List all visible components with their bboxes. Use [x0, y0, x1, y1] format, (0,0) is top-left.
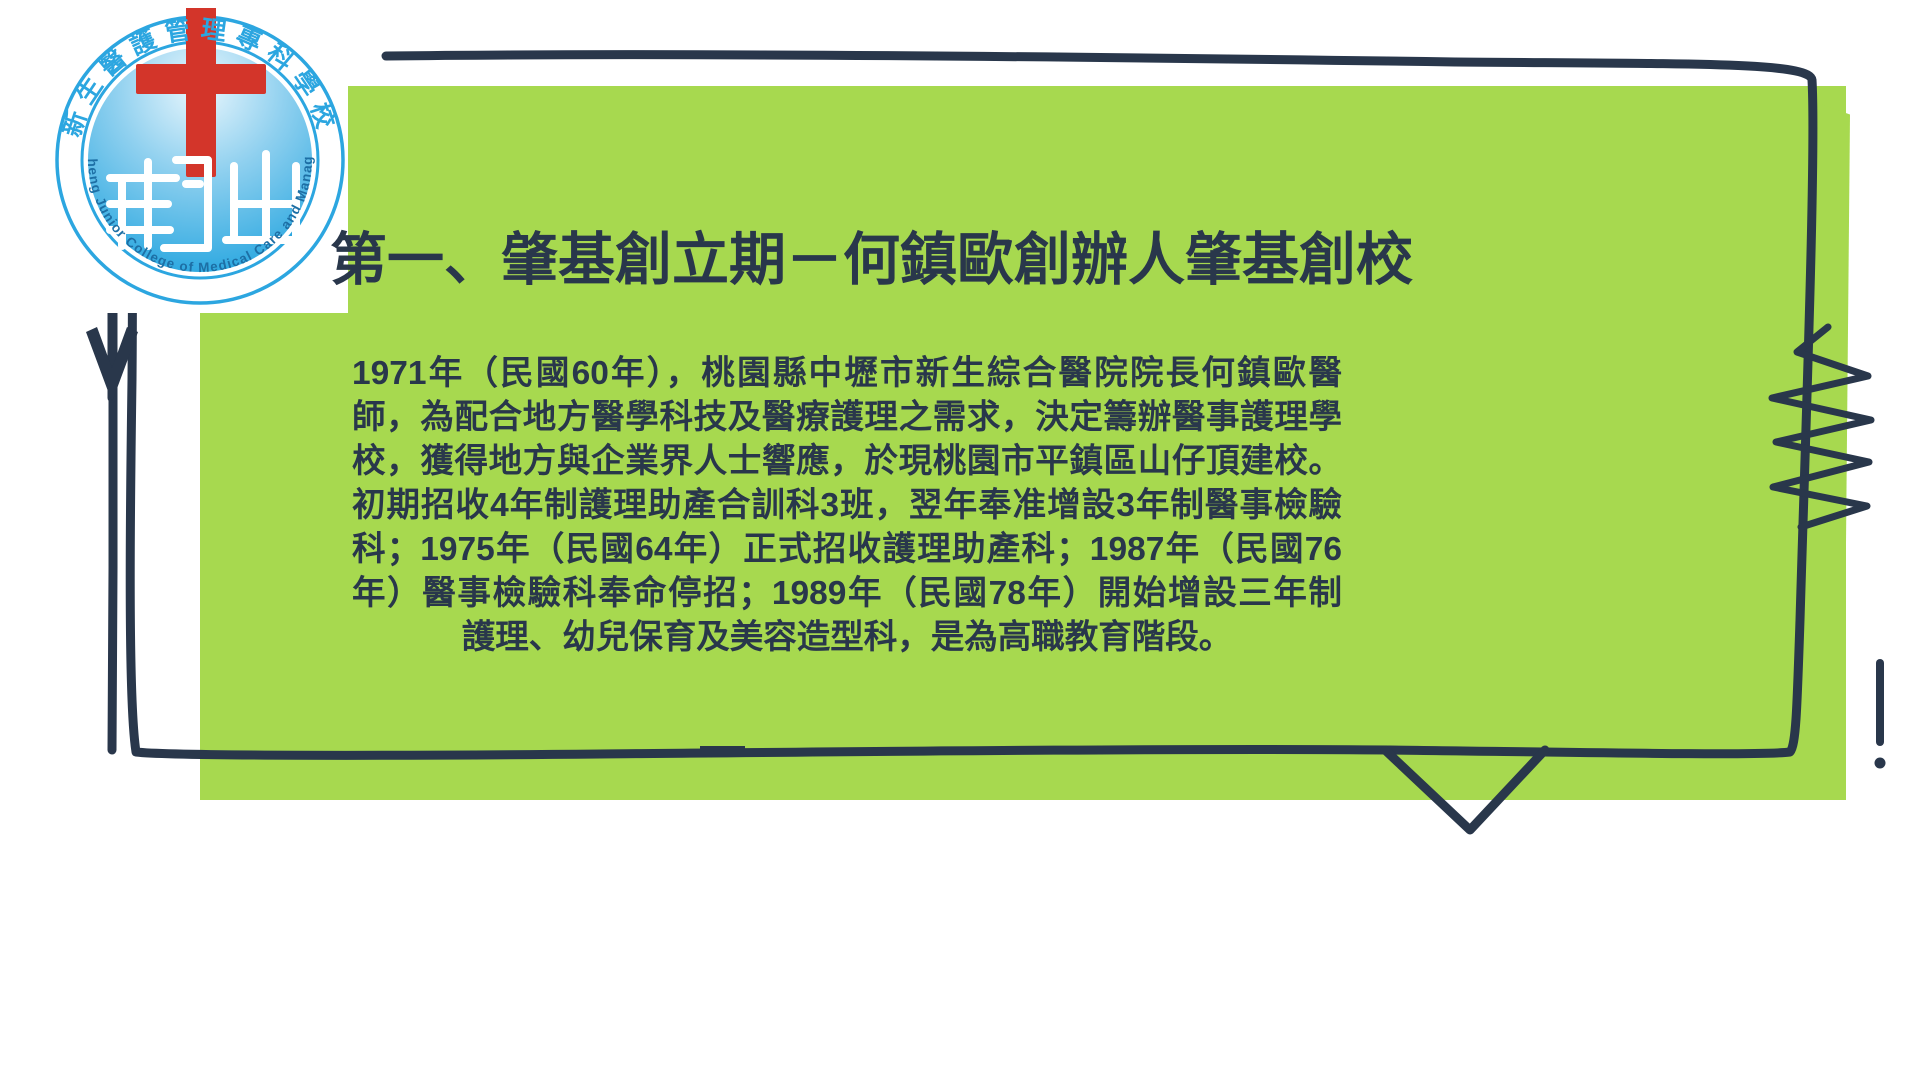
page-title: 第一、肇基創立期－何鎮歐創辦人肇基創校 — [330, 228, 1450, 294]
school-logo-graphic: 新生醫護管理專科學校 Hsin Sheng Junior College of … — [48, 8, 348, 313]
exclamation-mark-icon — [1875, 663, 1886, 769]
body-line: 師，為配合地方醫學科技及醫療護理之需求，決定籌辦醫事護理學 — [352, 396, 1342, 440]
body-line: 科；1975年（民國64年）正式招收護理助產科；1987年（民國76 — [352, 528, 1342, 572]
body-line: 1971年（民國60年），桃園縣中壢市新生綜合醫院院長何鎮歐醫 — [352, 352, 1342, 396]
body-line: 護理、幼兒保育及美容造型科，是為高職教育階段。 — [352, 616, 1342, 660]
slide-canvas: 新生醫護管理專科學校 Hsin Sheng Junior College of … — [0, 0, 1920, 1080]
green-panel-right-edge — [1770, 86, 1850, 800]
body-line: 校，獲得地方與企業界人士響應，於現桃園市平鎮區山仔頂建校。 — [352, 440, 1342, 484]
body-line: 年）醫事檢驗科奉命停招；1989年（民國78年）開始增設三年制 — [352, 572, 1342, 616]
body-line: 初期招收4年制護理助產合訓科3班，翌年奉准增設3年制醫事檢驗 — [352, 484, 1342, 528]
body-paragraph: 1971年（民國60年），桃園縣中壢市新生綜合醫院院長何鎮歐醫 師，為配合地方醫… — [352, 352, 1342, 660]
school-logo: 新生醫護管理專科學校 Hsin Sheng Junior College of … — [48, 8, 348, 313]
frame-left-stroke — [112, 283, 113, 750]
